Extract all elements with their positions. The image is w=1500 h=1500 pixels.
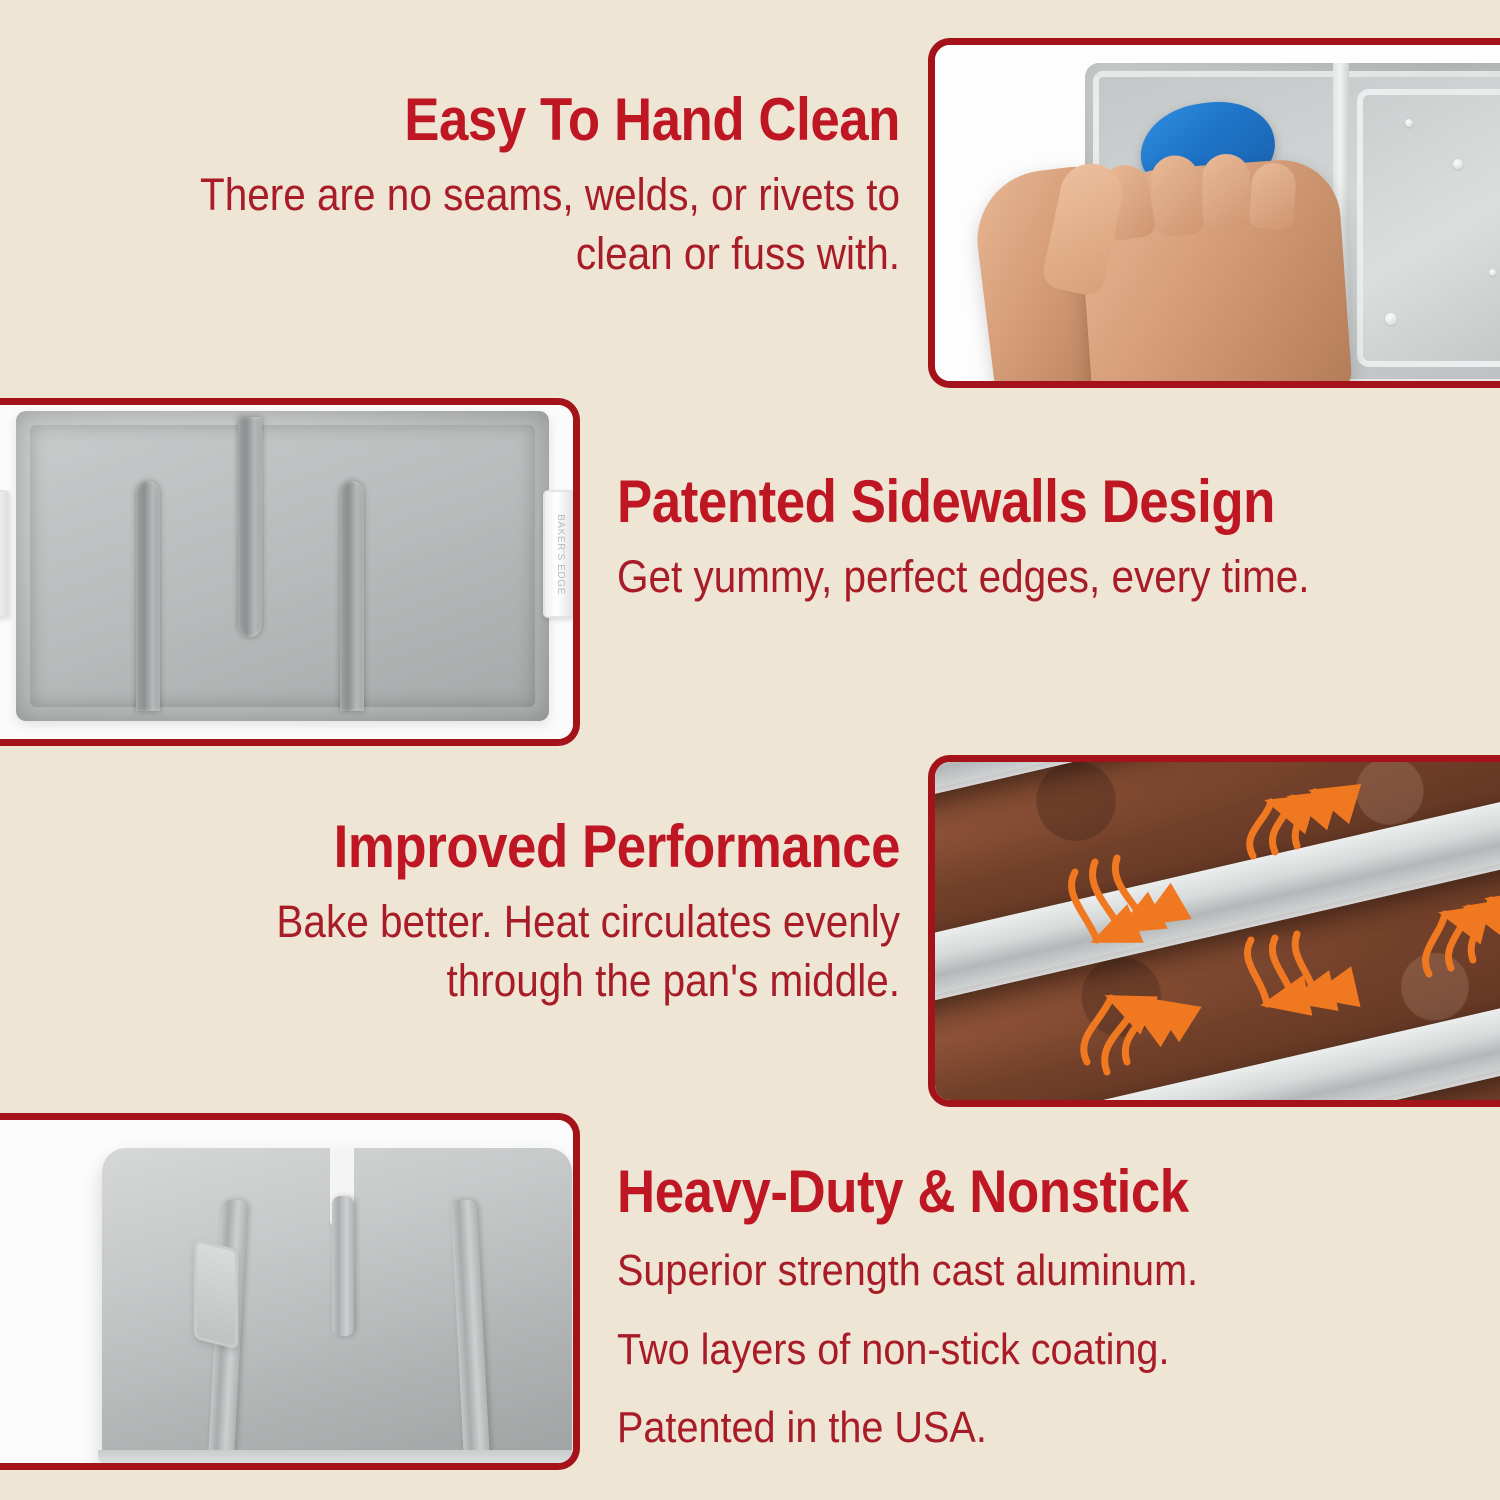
feature-title: Patented Sidewalls Design	[617, 470, 1356, 533]
pan-handle-right: BAKER'S EDGE	[543, 490, 573, 618]
pan-top-cavity	[30, 425, 535, 707]
water-droplet	[1385, 313, 1397, 325]
pan-underside-photo	[0, 1113, 580, 1470]
feature-body: Bake better. Heat circulates evenly thro…	[153, 892, 900, 1011]
pan-inverted-body	[102, 1148, 572, 1463]
pan-ridge	[450, 1200, 491, 1463]
water-droplet	[1489, 269, 1496, 276]
finger	[1202, 154, 1251, 231]
photo-content	[0, 1120, 573, 1463]
photo-content: BAKER'S EDGE BAKER'S EDGE	[0, 405, 573, 739]
feature-body: Get yummy, perfect edges, every time.	[617, 547, 1373, 606]
photo-content	[935, 45, 1500, 381]
finger	[1249, 161, 1297, 230]
feature-title: Easy To Hand Clean	[161, 88, 900, 151]
sidewall-left	[136, 481, 160, 711]
heat-flow-arrows	[935, 762, 1500, 1100]
pan-channel	[1357, 89, 1500, 367]
water-droplet	[1405, 119, 1413, 127]
pan-top-body	[16, 411, 549, 721]
pan-ridge	[332, 1196, 354, 1336]
infographic-canvas: Easy To Hand Clean There are no seams, w…	[0, 0, 1500, 1500]
feature-text-improved-performance: Improved Performance Bake better. Heat c…	[70, 815, 900, 1011]
feature-title: Improved Performance	[170, 815, 900, 878]
feature-title: Heavy-Duty & Nonstick	[617, 1160, 1365, 1223]
brownies-heat-circulation-photo	[928, 755, 1500, 1107]
feature-text-heavy-duty-and-nonstick: Heavy-Duty & Nonstick Superior strength …	[617, 1160, 1467, 1459]
feature-body: There are no seams, welds, or rivets to …	[144, 165, 900, 284]
water-droplet	[1453, 159, 1463, 169]
pan-base-lip	[98, 1450, 572, 1463]
feature-text-easy-to-hand-clean: Easy To Hand Clean There are no seams, w…	[60, 88, 900, 284]
sidewall-middle	[238, 417, 262, 637]
pan-side-handle	[194, 1239, 238, 1350]
feature-body-line: Two layers of non-stick coating.	[617, 1320, 1382, 1381]
hands-washing-pan-photo	[928, 38, 1500, 388]
pan-handle-left: BAKER'S EDGE	[0, 490, 10, 618]
finger	[1149, 153, 1205, 238]
handle-brand-label: BAKER'S EDGE	[555, 514, 566, 595]
sidewall-right	[340, 481, 364, 711]
feature-body-line: Superior strength cast aluminum.	[617, 1241, 1382, 1302]
photo-content	[935, 762, 1500, 1100]
feature-body-line: Patented in the USA.	[617, 1398, 1382, 1459]
feature-text-patented-sidewalls-design: Patented Sidewalls Design Get yummy, per…	[617, 470, 1457, 606]
pan-top-view-photo: BAKER'S EDGE BAKER'S EDGE	[0, 398, 580, 746]
